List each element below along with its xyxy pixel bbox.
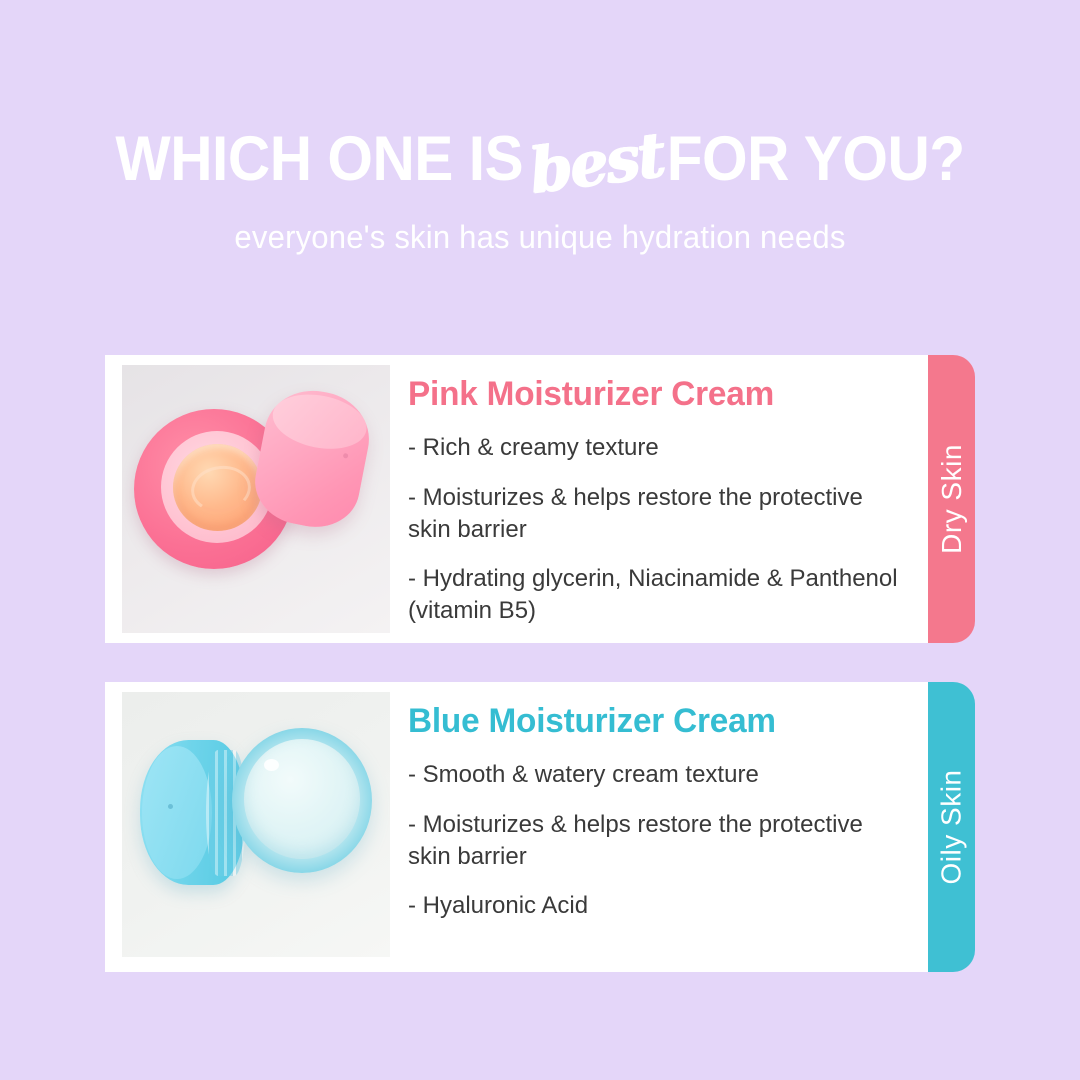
blue-bullet-2: - Moisturizes & helps restore the protec…	[408, 809, 906, 873]
blue-card-content: Blue Moisturizer Cream - Smooth & watery…	[390, 682, 930, 922]
pink-lid-dot-icon	[343, 453, 349, 459]
blue-lid-face-icon	[142, 746, 212, 879]
pink-cream-swirl-icon	[188, 462, 254, 516]
headline-script-word: best	[527, 123, 667, 202]
blue-jar-base-icon	[232, 728, 372, 873]
headline-part-two: FOR YOU?	[667, 128, 965, 191]
product-card-pink[interactable]: Pink Moisturizer Cream - Rich & creamy t…	[105, 355, 930, 643]
pink-card-content: Pink Moisturizer Cream - Rich & creamy t…	[390, 355, 930, 627]
blue-product-title: Blue Moisturizer Cream	[408, 704, 896, 740]
blue-bullet-1: - Smooth & watery cream texture	[408, 759, 906, 791]
pink-moisturizer-jar-photo	[122, 365, 390, 633]
skin-type-tab-oily[interactable]: Oily Skin	[928, 682, 975, 972]
blue-lid-dot-icon	[168, 804, 173, 809]
skin-type-tab-dry[interactable]: Dry Skin	[928, 355, 975, 643]
page-subtitle: everyone's skin has unique hydration nee…	[16, 219, 1064, 256]
headline-part-one: WHICH ONE IS	[115, 128, 523, 191]
blue-gel-content-icon	[244, 739, 360, 859]
pink-bullet-2: - Moisturizes & helps restore the protec…	[408, 482, 906, 546]
skin-type-tab-dry-label: Dry Skin	[936, 444, 968, 554]
page-headline: WHICH ONE ISbestFOR YOU?	[38, 128, 1042, 191]
header: WHICH ONE ISbestFOR YOU? everyone's skin…	[0, 0, 1080, 256]
pink-cream-content-icon	[173, 444, 262, 531]
pink-bullet-3: - Hydrating glycerin, Niacinamide & Pant…	[408, 563, 906, 627]
product-card-blue[interactable]: Blue Moisturizer Cream - Smooth & watery…	[105, 682, 930, 972]
blue-gel-bubble-icon	[264, 759, 279, 771]
blue-bullet-3: - Hyaluronic Acid	[408, 890, 906, 922]
skin-type-tab-oily-label: Oily Skin	[936, 770, 968, 885]
pink-bullet-1: - Rich & creamy texture	[408, 432, 906, 464]
pink-product-title: Pink Moisturizer Cream	[408, 377, 896, 413]
blue-jar-lid-icon	[140, 740, 245, 885]
pink-lid-highlight-icon	[268, 387, 371, 456]
blue-moisturizer-jar-photo	[122, 692, 390, 957]
